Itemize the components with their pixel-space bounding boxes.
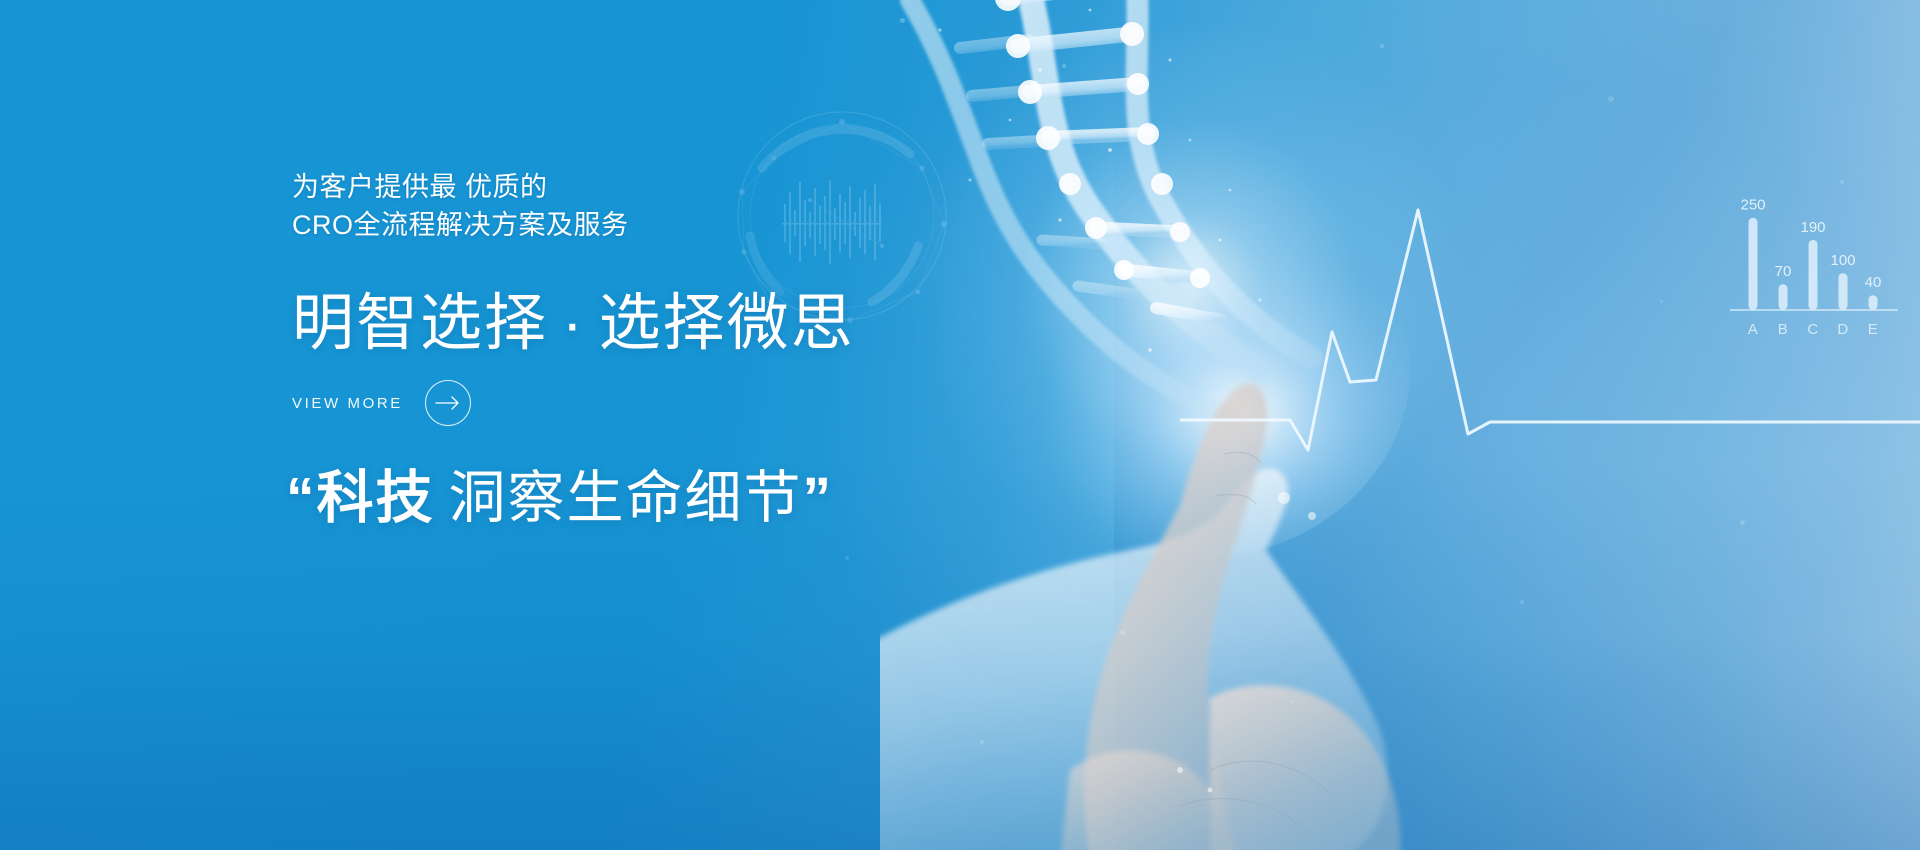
quote-open-mark: “ bbox=[286, 466, 317, 530]
chart-value-label: 70 bbox=[1775, 263, 1792, 280]
headline-part-1: 明智选择 bbox=[292, 289, 548, 358]
subtitle-block: 为客户提供最 优质的 CRO全流程解决方案及服务 bbox=[292, 168, 629, 245]
chart-category-label: E bbox=[1868, 321, 1879, 338]
headline-part-2: 选择微思 bbox=[599, 289, 855, 358]
page-title: 明智选择·选择微思 bbox=[292, 272, 855, 362]
chart-category-label: D bbox=[1837, 321, 1848, 338]
chart-value-label: 40 bbox=[1865, 274, 1882, 291]
chart-bar bbox=[1809, 240, 1818, 310]
hero-banner: 250A70B190C100D40E 为客户提供最 优质的 CRO全流程解决方案… bbox=[0, 0, 1920, 850]
chart-value-label: 190 bbox=[1800, 219, 1825, 236]
view-more-label: VIEW MORE bbox=[292, 395, 403, 412]
subtitle-line-2: CRO全流程解决方案及服务 bbox=[292, 206, 629, 244]
chart-value-label: 250 bbox=[1740, 197, 1765, 214]
headline-separator: · bbox=[548, 289, 599, 358]
view-more-button[interactable]: VIEW MORE bbox=[292, 380, 471, 426]
chart-category-label: B bbox=[1778, 321, 1789, 338]
chart-bar bbox=[1869, 295, 1878, 310]
chart-bar bbox=[1839, 273, 1848, 310]
chart-bar bbox=[1779, 284, 1788, 310]
banner-content: 为客户提供最 优质的 CRO全流程解决方案及服务 明智选择·选择微思 VIEW … bbox=[292, 0, 1112, 850]
quote-rest: 洞察生命细节 bbox=[449, 466, 803, 530]
tagline-quote: “科技洞察生命细节” bbox=[286, 452, 833, 534]
chart-category-label: A bbox=[1748, 321, 1759, 338]
chart-category-label: C bbox=[1807, 321, 1818, 338]
quote-close-mark: ” bbox=[803, 466, 834, 530]
chart-value-label: 100 bbox=[1830, 252, 1855, 269]
bar-chart: 250A70B190C100D40E bbox=[1724, 186, 1904, 346]
arrow-right-icon[interactable] bbox=[425, 380, 471, 426]
quote-emphasis: 科技 bbox=[317, 466, 435, 530]
subtitle-line-1: 为客户提供最 优质的 bbox=[292, 168, 629, 206]
chart-bar bbox=[1749, 218, 1758, 310]
